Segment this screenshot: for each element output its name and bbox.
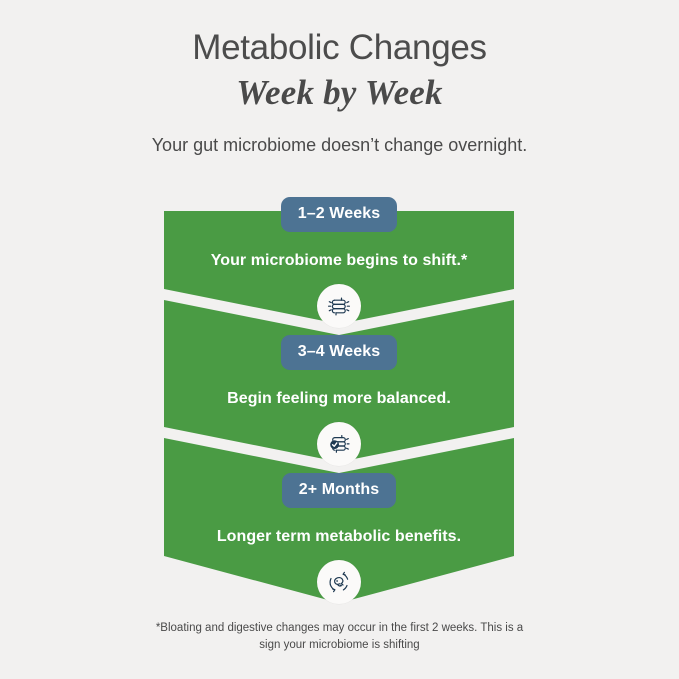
page-title-primary: Metabolic Changes xyxy=(0,26,679,70)
step-1-icon-circle xyxy=(317,284,361,328)
metabolism-cycle-icon xyxy=(325,568,353,596)
subtitle: Your gut microbiome doesn’t change overn… xyxy=(150,132,530,158)
footnote-line-2: sign your microbiome is shifting xyxy=(130,637,550,654)
footnote: *Bloating and digestive changes may occu… xyxy=(0,620,679,654)
step-1: 1–2 Weeks Your microbiome begins to shif… xyxy=(164,211,514,328)
metabolic-changes-infographic: Metabolic Changes Week by Week Your gut … xyxy=(0,0,679,679)
header: Metabolic Changes Week by Week Your gut … xyxy=(0,26,679,158)
step-3-badge: 2+ Months xyxy=(282,473,396,508)
step-1-badge: 1–2 Weeks xyxy=(281,197,397,232)
gut-activity-icon xyxy=(325,292,353,320)
step-2-badge: 3–4 Weeks xyxy=(281,335,397,370)
step-2-label: Begin feeling more balanced. xyxy=(164,388,514,410)
step-2: 3–4 Weeks Begin feeling more balanced. xyxy=(164,349,514,466)
gut-check-icon xyxy=(325,430,353,458)
step-1-label: Your microbiome begins to shift.* xyxy=(164,250,514,272)
chevron-stack: 1–2 Weeks Your microbiome begins to shif… xyxy=(164,211,514,603)
page-title-secondary: Week by Week xyxy=(0,71,679,115)
footnote-line-1: *Bloating and digestive changes may occu… xyxy=(130,620,550,637)
step-3: 2+ Months Longer term metabolic benefits… xyxy=(164,487,514,604)
step-3-icon-circle xyxy=(317,560,361,604)
step-2-icon-circle xyxy=(317,422,361,466)
step-3-label: Longer term metabolic benefits. xyxy=(164,526,514,548)
